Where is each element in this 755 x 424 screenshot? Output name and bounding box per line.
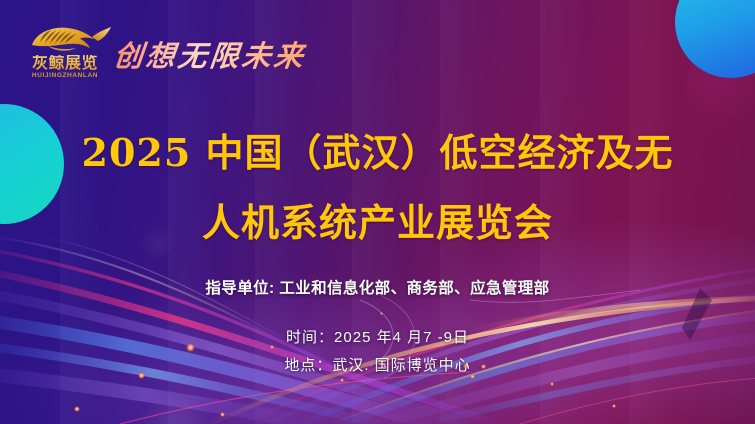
sparkle-dot [612, 404, 616, 408]
sparkle-dot [380, 312, 383, 315]
ghost-circle-bottom-left [140, 392, 210, 424]
sparkle-dot [550, 382, 554, 386]
poster-header: 灰鲸展览 HUIJINGZHANLAN 创想无限未来 [0, 0, 755, 100]
sparkle-dot [74, 406, 80, 412]
brand-slogan: 创想无限未来 [112, 33, 308, 75]
brand-name-en: HUIJINGZHANLAN [18, 72, 112, 79]
sparkle-dot [220, 412, 225, 417]
event-time: 时间：2025 年4 月7 -9日 [0, 326, 755, 347]
page-title-line1: 2025 中国（武汉）低空经济及无 [0, 130, 755, 176]
brand-name-cn: 灰鲸展览 [18, 55, 112, 72]
supporting-organizations: 指导单位: 工业和信息化部、商务部、应急管理部 [0, 276, 755, 298]
brand-logo[interactable]: 灰鲸展览 HUIJINGZHANLAN [18, 22, 112, 84]
exhibition-poster: 灰鲸展览 HUIJINGZHANLAN 创想无限未来 2025 中国（武汉）低空… [0, 0, 755, 424]
sparkle-dot [340, 378, 344, 382]
event-place: 地点：武汉. 国际博览中心 [0, 354, 755, 375]
page-title-line2: 人机系统产业展览会 [0, 200, 755, 246]
